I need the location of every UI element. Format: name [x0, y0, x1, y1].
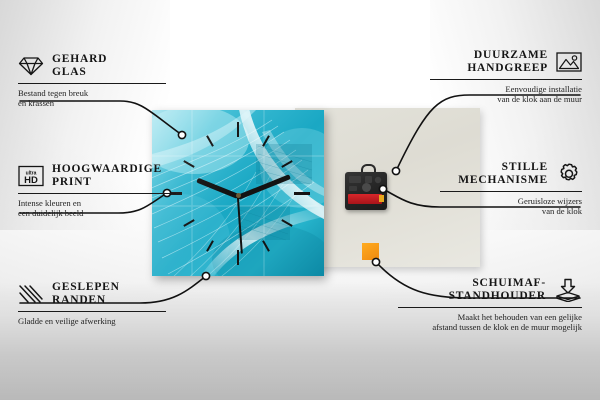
feature-description: Intense kleuren en een duidelijk beeld: [18, 198, 188, 219]
feature-heading: SCHUIMAF- STANDHOUDER: [398, 277, 582, 303]
infographic-canvas: GEHARD GLAS Bestand tegen breuk en krass…: [0, 0, 600, 400]
feature-geslepen-randen: GESLEPEN RANDEN Gladde en veilige afwerk…: [18, 281, 178, 326]
connector-duurzame-handgreep: [396, 95, 580, 171]
feature-title: SCHUIMAF- STANDHOUDER: [449, 277, 546, 303]
connector-dot-gehard-glas: [178, 131, 185, 138]
feature-title: GEHARD GLAS: [52, 53, 107, 79]
feature-duurzame-handgreep: DUURZAME HANDGREEP Eenvoudige installati…: [430, 49, 582, 104]
feature-heading: GESLEPEN RANDEN: [18, 281, 178, 307]
feature-rule: [440, 191, 582, 192]
feature-description: Maakt het behouden van een gelijke afsta…: [398, 312, 582, 333]
feature-title: GESLEPEN RANDEN: [52, 281, 120, 307]
feature-description: Bestand tegen breuk en krassen: [18, 88, 178, 109]
feature-hoogwaardige-print: ultra HD HOOGWAARDIGE PRINT Intense kleu…: [18, 163, 188, 218]
gear-icon: [556, 162, 582, 186]
diagonal-lines-icon: [18, 283, 44, 305]
feature-heading: DUURZAME HANDGREEP: [430, 49, 582, 75]
feature-title: HOOGWAARDIGE PRINT: [52, 163, 162, 189]
feature-rule: [18, 83, 166, 84]
diamond-icon: [18, 55, 44, 77]
feature-heading: STILLE MECHANISME: [440, 161, 582, 187]
connector-dot-geslepen-randen: [202, 272, 209, 279]
feature-description: Eenvoudige installatie van de klok aan d…: [430, 84, 582, 105]
feature-rule: [18, 311, 166, 312]
connector-dot-stille-mechanisme: [379, 185, 386, 192]
feature-rule: [398, 307, 582, 308]
connector-dot-schuimaf-standhouder: [372, 258, 379, 265]
feature-rule: [18, 193, 176, 194]
feature-heading: GEHARD GLAS: [18, 53, 178, 79]
picture-frame-icon: [556, 51, 582, 73]
ultra-hd-icon: ultra HD: [18, 165, 44, 187]
feature-description: Gladde en veilige afwerking: [18, 316, 178, 326]
stamp-down-arrow-icon: [554, 278, 582, 302]
svg-text:HD: HD: [24, 175, 38, 186]
feature-title: DUURZAME HANDGREEP: [467, 49, 548, 75]
feature-heading: ultra HD HOOGWAARDIGE PRINT: [18, 163, 188, 189]
feature-schuimaf-standhouder: SCHUIMAF- STANDHOUDER Maakt het behouden…: [398, 277, 582, 332]
feature-title: STILLE MECHANISME: [458, 161, 548, 187]
feature-description: Geruisloze wijzers van de klok: [440, 196, 582, 217]
feature-gehard-glas: GEHARD GLAS Bestand tegen breuk en krass…: [18, 53, 178, 108]
connector-dot-duurzame-handgreep: [392, 167, 399, 174]
feature-rule: [430, 79, 582, 80]
feature-stille-mechanisme: STILLE MECHANISME Geruisloze wijzers van…: [440, 161, 582, 216]
